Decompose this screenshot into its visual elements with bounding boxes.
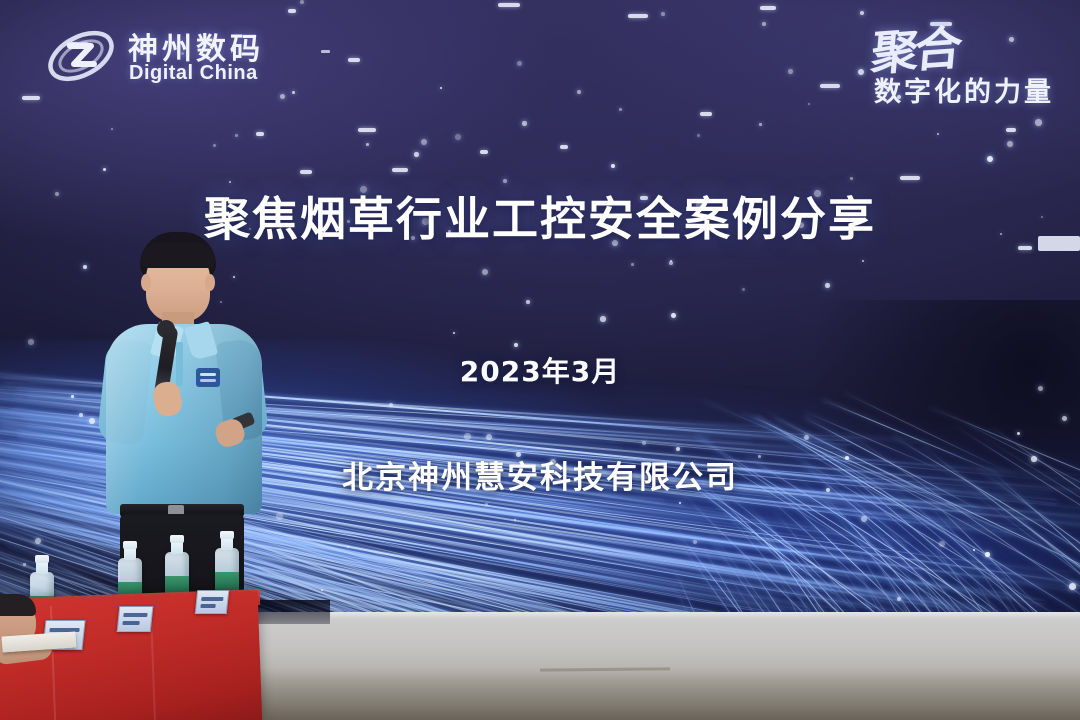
presenter-shirt-placket bbox=[176, 342, 183, 386]
name-card-text-line bbox=[201, 597, 223, 601]
screen-edge-marker bbox=[1038, 236, 1080, 251]
presenter-chest-logo bbox=[196, 368, 220, 387]
name-card-text-line bbox=[123, 613, 147, 617]
presenter-ear-left bbox=[141, 274, 151, 291]
presenter-hair-front bbox=[141, 242, 215, 268]
logo-tick-mark bbox=[321, 50, 330, 53]
name-card bbox=[195, 590, 230, 614]
digital-china-logo: 神州数码 Digital China bbox=[44, 22, 284, 94]
digital-china-mark-icon bbox=[44, 26, 118, 86]
event-logo-tagline: 数字化的力量 bbox=[874, 70, 1054, 109]
digital-china-english: Digital China bbox=[129, 62, 258, 85]
name-card-text-line bbox=[200, 604, 215, 608]
presenter-ear-right bbox=[205, 274, 215, 291]
conference-stage-photo: 神州数码 Digital China 聚合 数字化的力量 聚焦烟草行业工控安全案… bbox=[0, 0, 1080, 720]
name-card-text-line bbox=[122, 621, 139, 625]
event-logo: 聚合 数字化的力量 bbox=[804, 14, 1054, 110]
name-card bbox=[117, 606, 154, 632]
